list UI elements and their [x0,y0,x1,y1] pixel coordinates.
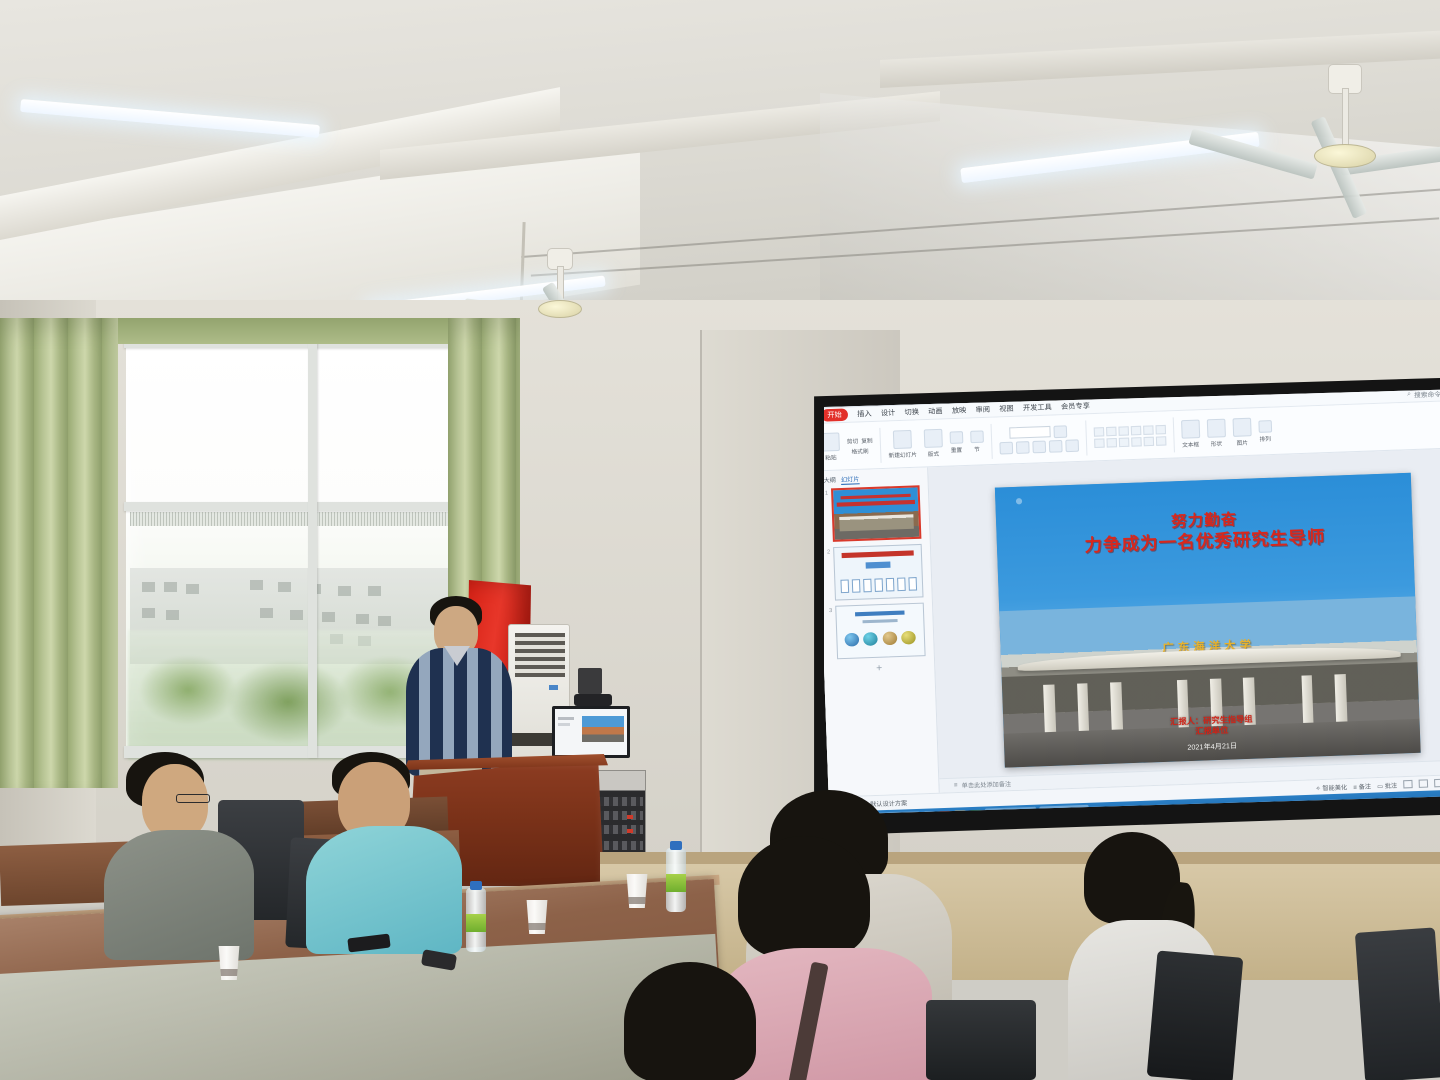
thumb-heading [855,610,904,616]
smart-beautify-button[interactable]: ✧ 智能美化 [1315,782,1347,792]
textbox-group[interactable]: 文本框 [1181,419,1201,448]
shape-group[interactable]: 形状 [1206,418,1226,447]
glasses-icon [176,794,210,803]
audience-member-2 [312,752,472,952]
water-bottle [666,848,686,912]
thumb-circle [863,632,878,646]
thumb-org-node [885,578,894,592]
tab-animation[interactable]: 动画 [928,406,943,417]
notes-icon: ≡ [1353,784,1357,790]
thumb-heading [841,550,914,557]
camera-mount [578,668,602,694]
thumb-org-node [863,579,872,593]
underline-icon[interactable] [1032,440,1046,453]
new-slide-icon[interactable] [893,429,912,448]
chair [1355,927,1440,1080]
tab-transition[interactable]: 切换 [904,407,919,418]
thumb-circle [844,632,859,646]
bottle-cap [670,841,682,850]
wps-workspace: 大纲 幻灯片 1 2 [817,448,1440,797]
list-item[interactable]: 3 [825,602,931,659]
slide-number: 3 [825,606,833,614]
font-family-select[interactable] [1009,426,1051,439]
fan-hub [1314,144,1376,168]
notes-button[interactable]: ≡ 备注 [1353,781,1371,791]
comment-icon: ▭ [1377,784,1383,790]
alignment-icons[interactable] [1094,436,1166,448]
reset-icon[interactable] [949,431,963,444]
bold-icon[interactable] [999,441,1013,454]
new-slide-label: 新建幻灯片 [888,450,917,459]
rack-led [627,829,633,833]
tab-start[interactable]: 开始 [821,408,848,421]
thumb-org-node [874,578,883,592]
slide-thumbnail-2[interactable] [833,544,923,601]
conference-room-photo: 新建 关于勤奋努力成为一名优秀研究生导师 + ☁ 未同步 开始 插入 设计 切换… [0,0,1440,1080]
notes-icon: ≡ [954,782,958,788]
normal-view-icon[interactable] [1403,780,1413,789]
cup-band [527,923,547,930]
thumb-org-root [866,562,890,569]
paragraph-group[interactable] [1093,424,1166,447]
list-item[interactable]: 1 [821,485,927,542]
camera [574,694,612,706]
cup-band [219,969,239,976]
thumb-circle [901,630,916,644]
monitor-text-line [558,723,570,726]
clipboard-group[interactable]: 剪切 复制 格式刷 [847,436,873,455]
shape-icon[interactable] [1206,418,1225,437]
tab-design[interactable]: 设计 [881,408,896,419]
layout-label: 版式 [928,449,940,458]
comment-button[interactable]: ▭ 批注 [1377,780,1397,790]
fan-rod [1342,88,1349,148]
format-painter-label[interactable]: 格式刷 [851,446,868,455]
text-direction-icon[interactable] [1155,424,1166,434]
ribbon-divider [1172,417,1174,452]
thumb-org-node [897,577,906,591]
italic-icon[interactable] [1015,441,1029,454]
tab-outline[interactable]: 大纲 [823,475,836,486]
thumb-subheading [863,619,898,623]
slide-thumbnail-1[interactable] [831,485,921,542]
bottle-cap [470,881,482,890]
paste-label: 粘贴 [825,453,837,462]
notes-label: 备注 [1359,784,1372,791]
sparkle-icon: ✧ [1315,786,1320,792]
wall-corner [700,330,702,870]
monitor-screen [555,709,627,755]
thumb-org-node [908,577,917,591]
bottle-label [666,874,686,892]
number-list-icon[interactable] [1106,426,1117,436]
list-item[interactable]: 2 [823,544,929,601]
paragraph-icons[interactable] [1093,424,1165,436]
font-color-icon[interactable] [1065,439,1079,452]
ribbon-divider [879,427,881,462]
slide-canvas[interactable]: 努力勤奋 力争成为一名优秀研究生导师 广东海洋大学 [928,448,1440,793]
chair [1147,950,1244,1080]
align-center-icon[interactable] [1106,437,1117,447]
tab-slides[interactable]: 幻灯片 [841,474,860,485]
picture-icon[interactable] [1232,417,1251,436]
section-group[interactable]: 节 [970,430,984,453]
font-size-select[interactable] [1053,425,1067,438]
monitor-text-line [558,717,574,720]
increase-indent-icon[interactable] [1130,425,1141,435]
comment-label: 批注 [1385,783,1398,790]
thumb-gate-image [839,514,914,531]
reset-group[interactable]: 重置 [949,431,963,454]
monitor-slide-image [582,716,624,742]
thumb-org-node [840,579,849,593]
arrange-icon[interactable] [1258,420,1272,433]
picture-group[interactable]: 图片 [1232,417,1252,446]
layout-icon[interactable] [923,428,942,447]
distribute-icon[interactable] [1143,436,1154,446]
ceiling-fan [1230,60,1440,210]
audience-member-5 [600,962,790,1080]
tab-insert[interactable]: 插入 [857,409,872,420]
strikethrough-icon[interactable] [1048,439,1062,452]
bullet-list-icon[interactable] [1093,427,1104,437]
arrange-group[interactable]: 排列 [1258,420,1272,443]
layout-group[interactable]: 版式 [923,428,943,457]
columns-icon[interactable] [1155,436,1166,446]
tab-view[interactable]: 视图 [999,404,1014,415]
audience-member-1 [104,752,274,962]
thumb-org-node [852,579,861,593]
curtain-left [0,318,118,788]
hair [738,836,870,958]
tab-member[interactable]: 会员专享 [1061,401,1090,412]
align-left-icon[interactable] [1094,438,1105,448]
bottle-label [466,914,486,932]
torso [104,830,254,960]
window-frame [124,502,468,511]
slide-thumbnail-3[interactable] [835,603,925,660]
confidence-monitor [552,706,630,758]
textbox-icon[interactable] [1181,419,1200,438]
reset-label: 重置 [951,445,963,454]
ac-indicator [549,685,558,690]
font-group[interactable] [998,424,1078,454]
cut-label[interactable]: 剪切 [847,436,859,445]
hair [624,962,756,1080]
thumb-title-line [837,500,915,507]
window-mullion [308,340,317,758]
ribbon-divider [990,423,992,458]
align-right-icon[interactable] [1118,437,1129,447]
decrease-indent-icon[interactable] [1118,426,1129,436]
textbox-label: 文本框 [1182,440,1199,449]
arrange-label: 排列 [1259,434,1271,443]
ribbon-divider [1085,420,1087,455]
fan-hub [538,300,582,318]
chair [926,1000,1036,1080]
new-slide-group[interactable]: 新建幻灯片 [888,429,917,459]
thumb-title-line [840,494,911,500]
thumb-circle [882,631,897,645]
cup-band [627,897,647,904]
wps-presentation-app[interactable]: 新建 关于勤奋努力成为一名优秀研究生导师 + ☁ 未同步 开始 插入 设计 切换… [814,388,1440,820]
window-screen [130,512,462,526]
copy-label[interactable]: 复制 [861,436,873,445]
notes-placeholder: 单击此处添加备注 [962,779,1012,790]
wall-display-screen[interactable]: 新建 关于勤奋努力成为一名优秀研究生导师 + ☁ 未同步 开始 插入 设计 切换… [814,388,1440,820]
shape-label: 形状 [1211,439,1223,448]
justify-icon[interactable] [1131,437,1142,447]
slide-sorter-icon[interactable] [1419,779,1429,788]
water-bottle [466,888,486,952]
current-slide[interactable]: 努力勤奋 力争成为一名优秀研究生导师 广东海洋大学 [995,473,1421,768]
tab-developer[interactable]: 开发工具 [1023,402,1052,413]
reading-view-icon[interactable] [1434,779,1440,788]
picture-label: 图片 [1236,438,1248,447]
tab-review[interactable]: 审阅 [975,404,990,415]
search-icon: ⌕ [1407,390,1411,398]
slide-thumbnail-panel[interactable]: 大纲 幻灯片 1 2 [817,467,940,796]
tab-slideshow[interactable]: 放映 [952,405,967,416]
section-label: 节 [974,444,980,452]
line-spacing-icon[interactable] [1143,425,1154,435]
rack-led [627,815,633,819]
section-icon[interactable] [970,430,984,443]
smart-beautify-label: 智能美化 [1322,785,1347,792]
add-slide-button[interactable]: + [827,661,931,676]
